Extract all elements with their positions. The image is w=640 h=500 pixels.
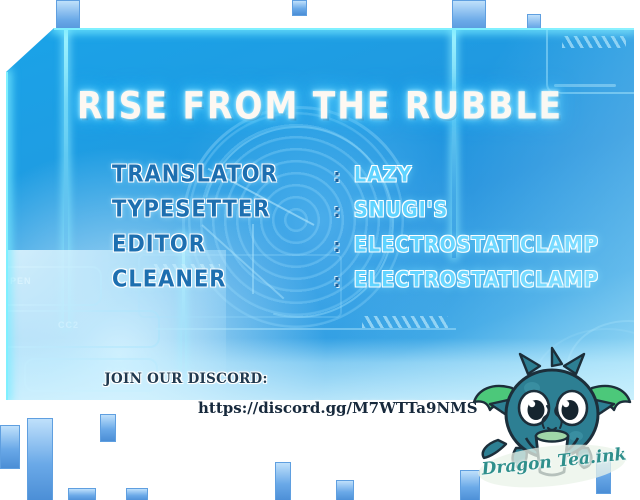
credit-row: TRANSLATOR : LAZY (112, 163, 632, 198)
credit-separator: : (320, 271, 354, 292)
debris-fragment (336, 480, 354, 500)
debris-fragment (27, 418, 53, 500)
debris-fragment (100, 414, 116, 442)
page-title: RISE FROM THE RUBBLE (6, 84, 634, 128)
credit-row: TYPESETTER : SNUGI'S (112, 198, 632, 233)
credit-role-label: TRANSLATOR (112, 161, 320, 187)
discord-label: JOIN OUR DISCORD: (104, 371, 267, 387)
credit-value: ELECTROSTATICLAMP (354, 268, 599, 292)
credits-list: TRANSLATOR : LAZY TYPESETTER : SNUGI'S E… (112, 163, 632, 303)
credit-role-label: TYPESETTER (112, 196, 320, 222)
credit-role-label: EDITOR (112, 231, 320, 257)
panel-edge-chamfer (6, 28, 52, 44)
dragon-tea-ink-logo: Dragon Tea.ink (468, 344, 636, 494)
credit-value: ELECTROSTATICLAMP (354, 233, 599, 257)
page-canvas: OPEN CC2 CC2 RISE FROM THE RUBBLE TRANSL… (0, 0, 640, 500)
credit-row: CLEANER : ELECTROSTATICLAMP (112, 268, 632, 303)
debris-fragment (275, 462, 291, 500)
hud-hatching (362, 316, 448, 328)
credit-row: EDITOR : ELECTROSTATICLAMP (112, 233, 632, 268)
credit-role-label: CLEANER (112, 266, 320, 292)
debris-fragment (0, 425, 20, 469)
credit-value: SNUGI'S (354, 198, 448, 222)
hud-hatching (562, 36, 626, 48)
credit-value: LAZY (354, 163, 412, 187)
panel-edge-top (54, 28, 634, 30)
credit-separator: : (320, 236, 354, 257)
debris-fragment (126, 488, 148, 500)
debris-fragment (68, 488, 96, 500)
credit-separator: : (320, 201, 354, 222)
debris-fragment (292, 0, 307, 16)
credit-separator: : (320, 166, 354, 187)
discord-invite-link[interactable]: https://discord.gg/M7WTTa9NMS (198, 399, 478, 417)
